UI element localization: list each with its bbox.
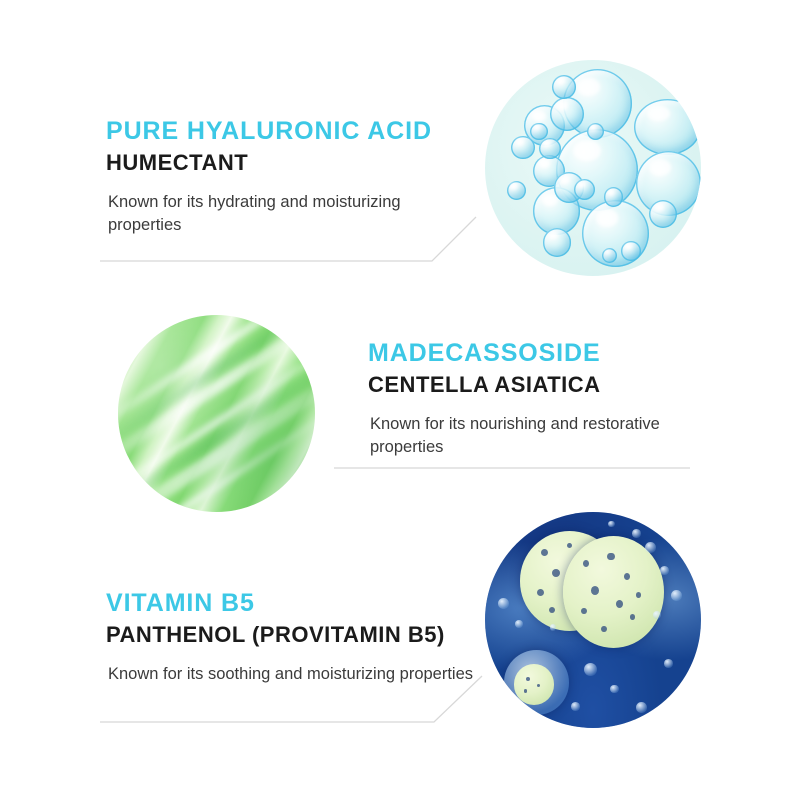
ingredient-infographic: PURE HYALURONIC ACID HUMECTANT Known for… xyxy=(0,0,800,800)
ingredient-block-hyaluronic-acid: PURE HYALURONIC ACID HUMECTANT Known for… xyxy=(106,118,466,236)
bubbles-circle-image xyxy=(485,60,701,276)
ingredient-kicker: MADECASSOSIDE xyxy=(368,340,708,367)
ingredient-subhead: CENTELLA ASIATICA xyxy=(368,372,708,397)
ingredient-kicker: VITAMIN B5 xyxy=(106,590,486,617)
ingredient-description: Known for its hydrating and moisturizing… xyxy=(108,191,466,237)
ingredient-description: Known for its nourishing and restorative… xyxy=(370,413,708,459)
blue-microsphere-circle-image xyxy=(485,512,701,728)
divider-rule-3 xyxy=(100,680,500,740)
ingredient-block-vitamin-b5: VITAMIN B5 PANTHENOL (PROVITAMIN B5) Kno… xyxy=(106,590,486,686)
green-cream-circle-image xyxy=(118,315,315,512)
ingredient-block-madecassoside: MADECASSOSIDE CENTELLA ASIATICA Known fo… xyxy=(368,340,708,458)
ingredient-description: Known for its soothing and moisturizing … xyxy=(108,663,486,686)
ingredient-subhead: HUMECTANT xyxy=(106,150,466,175)
ingredient-subhead: PANTHENOL (PROVITAMIN B5) xyxy=(106,622,486,647)
ingredient-kicker: PURE HYALURONIC ACID xyxy=(106,118,466,145)
